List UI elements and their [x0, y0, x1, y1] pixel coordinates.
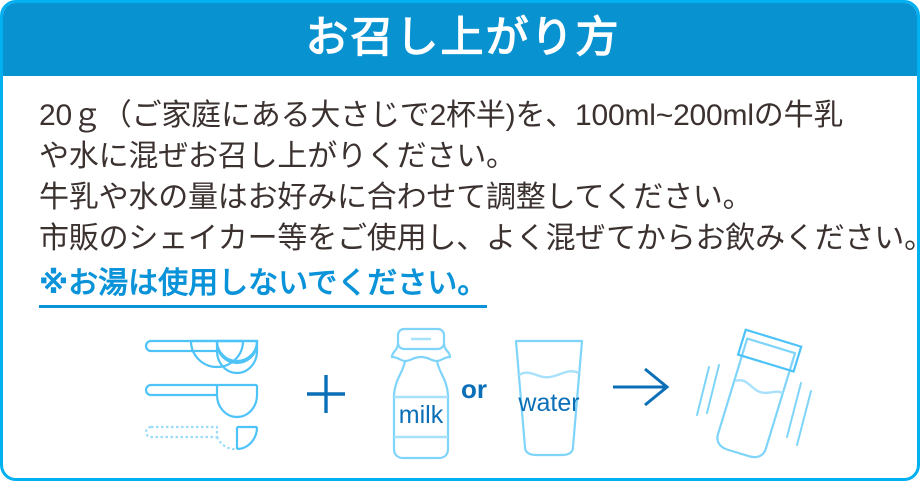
milk-label: milk — [399, 401, 444, 429]
arrow-right-icon — [609, 363, 675, 411]
panel-header: お召し上がり方 — [0, 0, 920, 76]
instruction-line-2: や水に混ぜお召し上がりください。 — [39, 136, 895, 177]
illustration-row: milk or water — [3, 315, 920, 475]
or-label: or — [461, 376, 487, 402]
instruction-line-4: 市販のシェイカー等をご使用し、よく混ぜてからお飲みください。 — [39, 218, 895, 259]
instruction-text-block: 20ｇ（ご家庭にある大さじで2杯半)を、100ml~200mlの牛乳 や水に混ぜ… — [39, 95, 895, 308]
shaker-icon — [689, 321, 819, 469]
spoon-group-icon — [139, 327, 319, 463]
warning-note: ※お湯は使用しないでください。 — [39, 265, 487, 308]
instruction-line-3: 牛乳や水の量はお好みに合わせて調整してください。 — [39, 177, 895, 218]
page-title: お召し上がり方 — [306, 17, 621, 60]
plus-icon — [301, 369, 351, 419]
milk-bottle-icon: milk — [381, 325, 461, 463]
instruction-panel: お召し上がり方 20ｇ（ご家庭にある大さじで2杯半)を、100ml~200mlの… — [0, 0, 920, 481]
water-glass-icon: water — [508, 335, 590, 459]
water-label: water — [517, 389, 579, 417]
instruction-line-1: 20ｇ（ご家庭にある大さじで2杯半)を、100ml~200mlの牛乳 — [39, 95, 895, 136]
